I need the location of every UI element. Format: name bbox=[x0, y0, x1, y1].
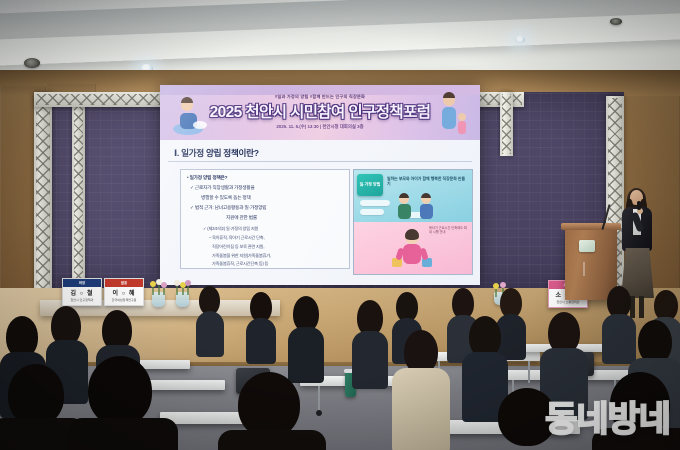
banner-title: 2025 천안시 시민참여 인구정책포럼 bbox=[210, 100, 431, 122]
truss-column-mid bbox=[72, 96, 85, 308]
placard-role: 좌장 bbox=[63, 280, 101, 285]
slide-body-box: • 일가정 양립 정책은? ✓ 근로자가 직장생활과 가정생활을 병행할 수 있… bbox=[180, 169, 350, 269]
slide-bullet: 병행할 수 있도록 돕는 정책 bbox=[201, 195, 251, 201]
slide-infographic: 일·가정 양립 일하는 부모와 아이가 함께 행복한 직장문화 만들기 bbox=[353, 169, 473, 275]
infographic-headline: 일하는 부모와 아이가 함께 행복한 직장문화 만들기 bbox=[387, 176, 467, 187]
infographic-badge: 일·가정 양립 bbox=[357, 174, 383, 196]
slide-bullet: ✓ (제3조의2) 일·가정의 양립 지원 bbox=[203, 226, 258, 232]
slide-bullet: 가족돌봄을 위한 지원(가족돌봄휴가, bbox=[212, 253, 271, 259]
audience-member bbox=[246, 292, 276, 364]
desk-leg bbox=[318, 386, 320, 412]
handheld-microphone-icon bbox=[637, 201, 641, 210]
desk-leg bbox=[528, 361, 530, 383]
audience-torso bbox=[68, 418, 178, 450]
infographic-pill bbox=[360, 200, 390, 206]
infographic-side-text: 육아기 근로시간 단축제도 확대 시행 안내 bbox=[429, 226, 469, 235]
infographic-badge-text: 일·가정 양립 bbox=[360, 183, 381, 188]
speaker-leg bbox=[639, 296, 644, 318]
watermark-logo: 동네방네 bbox=[545, 391, 670, 442]
audience-torso bbox=[392, 368, 450, 450]
placard-affiliation: 천안시 소통협력관 bbox=[549, 300, 587, 304]
banner-figure-right-icon bbox=[428, 91, 474, 139]
audience-head bbox=[88, 356, 152, 426]
placard-affiliation: 한국여성정책연구원 bbox=[105, 298, 143, 302]
podium-detail-line bbox=[583, 262, 585, 276]
placard-name: 김 ○ 철 bbox=[63, 288, 101, 297]
name-placard: 발표 이 ○ 혜 한국여성정책연구원 bbox=[104, 278, 144, 306]
banner-date: 2025. 11. 5.(수) 13:30 | 천안시청 대회의실 3층 bbox=[276, 124, 363, 130]
slide-bullet: – 육아휴직, 육아기 근로시간 단축, bbox=[209, 235, 264, 241]
slide-bullet: • 일가정 양립 정책은? bbox=[187, 175, 227, 181]
flower-bouquet-icon bbox=[146, 278, 172, 296]
audience-head bbox=[8, 364, 64, 426]
audience-member bbox=[222, 372, 318, 450]
flower-bouquet-icon bbox=[170, 278, 196, 296]
placard-role: 발표 bbox=[105, 280, 143, 285]
photo-scene: #일과 가정의 양립 #함께 만드는 인구의 직장문화 2025 천안시 시민참… bbox=[0, 0, 680, 450]
infographic-couple-icon bbox=[394, 192, 440, 220]
placard-name: 이 ○ 혜 bbox=[105, 288, 143, 297]
audience-torso bbox=[196, 311, 224, 357]
audience-member bbox=[392, 330, 448, 450]
audience-member bbox=[352, 300, 388, 388]
audience-member bbox=[288, 296, 324, 382]
audience-torso bbox=[218, 430, 326, 450]
banner-figure-left-icon bbox=[170, 93, 210, 137]
ceiling-grille bbox=[610, 18, 622, 25]
projection-screen: #일과 가정의 양립 #함께 만드는 인구의 직장문화 2025 천안시 시민참… bbox=[160, 85, 480, 285]
audience-torso bbox=[352, 331, 388, 389]
ceiling-downlight bbox=[515, 36, 525, 43]
name-placard: 좌장 김 ○ 철 천안시 인구정책과 bbox=[62, 278, 102, 306]
placard-affiliation: 천안시 인구정책과 bbox=[63, 298, 101, 302]
audience-torso bbox=[246, 318, 276, 364]
truss-column-left bbox=[34, 92, 52, 307]
slide-bullet: 직장어린이집 등 보육 관련 지원, bbox=[212, 244, 264, 250]
truss-column-inner-right bbox=[500, 92, 513, 156]
slide-bullet: ✓ 근로자가 직장생활과 가정생활을 bbox=[190, 185, 255, 191]
audience-member bbox=[74, 356, 170, 450]
audience-member bbox=[196, 286, 224, 358]
ceiling-grille bbox=[24, 58, 40, 68]
slide-bullet: ✓ 법적 근거: 남녀고용평등과 일·가정양립 bbox=[190, 205, 266, 211]
slide-title: Ⅰ. 일가정 양립 정책이란? bbox=[174, 147, 259, 159]
slide-bullet: 가족돌봄휴직, 근로시간단축 등) 등 bbox=[212, 261, 268, 267]
slide-title-rule bbox=[168, 161, 472, 162]
slide-bullet: 지원에 관한 법률 bbox=[226, 215, 257, 221]
audience-head bbox=[238, 372, 300, 438]
infographic-pill bbox=[360, 209, 384, 215]
slide-banner: #일과 가정의 양립 #함께 만드는 인구의 직장문화 2025 천안시 시민참… bbox=[160, 85, 480, 140]
podium-emblem bbox=[579, 240, 595, 252]
